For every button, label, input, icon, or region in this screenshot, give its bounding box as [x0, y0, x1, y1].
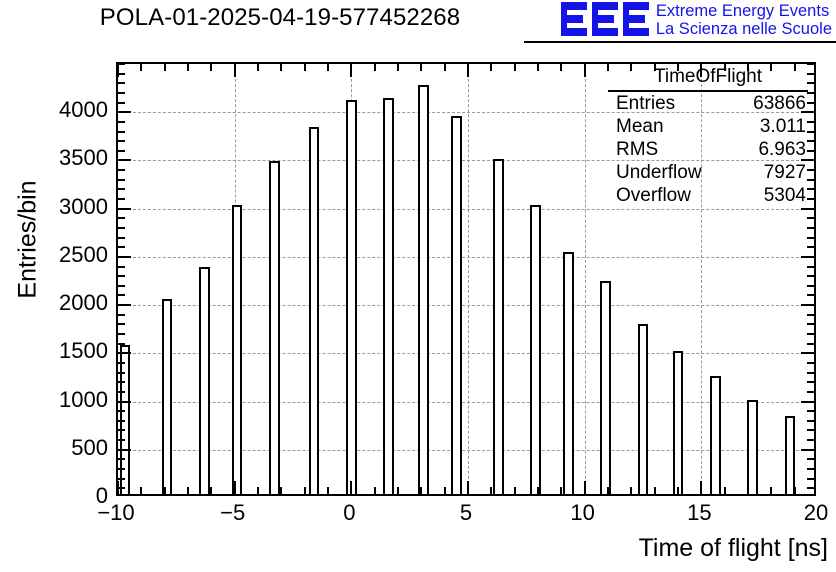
- x-axis-title: Time of flight [ns]: [639, 534, 828, 563]
- axis-tick: [374, 487, 376, 494]
- axis-tick: [118, 64, 125, 65]
- axis-tick: [801, 449, 814, 451]
- y-tick-label: 3000: [59, 194, 108, 220]
- axis-tick: [700, 481, 702, 494]
- axis-tick: [118, 92, 125, 94]
- y-tick-label: 2000: [59, 290, 108, 316]
- stats-title: TimeOfFlight: [608, 66, 808, 92]
- axis-tick: [118, 237, 125, 239]
- letter-e-icon: [561, 2, 587, 36]
- stats-value: 63866: [753, 93, 806, 116]
- y-tick-label: 1000: [59, 387, 108, 413]
- axis-tick: [807, 362, 814, 364]
- axis-tick: [118, 478, 125, 480]
- axis-tick: [118, 294, 125, 296]
- histogram-bar: [199, 267, 210, 494]
- axis-tick: [807, 266, 814, 268]
- y-tick-label: 500: [71, 435, 108, 461]
- axis-tick: [537, 64, 539, 71]
- axis-tick: [584, 481, 586, 494]
- stats-key: Overflow: [616, 185, 691, 208]
- histogram-bar: [747, 400, 758, 494]
- axis-tick: [118, 179, 125, 181]
- axis-tick: [807, 343, 814, 345]
- stats-value: 6.963: [758, 139, 806, 162]
- axis-tick: [210, 487, 212, 494]
- axis-tick: [118, 391, 125, 393]
- axis-tick: [327, 64, 329, 71]
- axis-tick: [801, 352, 814, 354]
- axis-tick: [801, 256, 814, 258]
- x-tick-label: −10: [97, 500, 134, 526]
- axis-tick: [118, 169, 125, 171]
- gridline-vertical: [468, 64, 469, 494]
- axis-tick: [118, 362, 125, 364]
- axis-tick: [350, 481, 352, 494]
- axis-tick: [420, 487, 422, 494]
- eee-logo-text: Extreme Energy Events La Scienza nelle S…: [656, 2, 832, 39]
- axis-tick: [118, 468, 125, 470]
- axis-tick: [118, 429, 125, 431]
- histogram-bar: [710, 376, 721, 495]
- axis-tick: [807, 429, 814, 431]
- eee-logo-mark: [561, 2, 649, 36]
- axis-tick: [807, 275, 814, 277]
- eee-logo: Extreme Energy Events La Scienza nelle S…: [561, 2, 832, 39]
- axis-tick: [118, 227, 125, 229]
- axis-tick: [807, 237, 814, 239]
- axis-tick: [560, 64, 562, 71]
- chart-canvas: POLA-01-2025-04-19-577452268 Extreme Ene…: [0, 0, 836, 572]
- axis-tick: [118, 266, 125, 268]
- histogram-bar: [530, 205, 541, 494]
- stats-row: Underflow7927: [600, 162, 816, 185]
- axis-tick: [257, 487, 259, 494]
- x-tick-label: 20: [804, 500, 828, 526]
- axis-tick: [164, 64, 166, 71]
- axis-tick: [724, 487, 726, 494]
- x-tick-label: −5: [220, 500, 245, 526]
- stats-key: Underflow: [616, 162, 702, 185]
- axis-tick: [234, 64, 236, 77]
- axis-tick: [807, 372, 814, 374]
- stats-row: Overflow5304: [600, 185, 816, 208]
- axis-tick: [118, 352, 131, 354]
- axis-tick: [118, 449, 131, 451]
- histogram-bar: [232, 205, 243, 494]
- x-tick-label: 10: [570, 500, 594, 526]
- axis-tick: [801, 304, 814, 306]
- axis-tick: [118, 285, 125, 287]
- axis-tick: [514, 64, 516, 71]
- histogram-bar: [785, 416, 796, 494]
- axis-tick: [118, 102, 125, 104]
- y-tick-label: 3500: [59, 145, 108, 171]
- axis-tick: [118, 217, 125, 219]
- axis-tick: [118, 198, 125, 200]
- axis-tick: [118, 401, 131, 403]
- histogram-bar: [269, 161, 280, 494]
- stats-row: Entries63866: [600, 93, 816, 116]
- axis-tick: [397, 487, 399, 494]
- histogram-bar: [493, 159, 504, 494]
- stats-row: Mean3.011: [600, 116, 816, 139]
- axis-tick: [118, 304, 131, 306]
- eee-logo-line1: Extreme Energy Events: [656, 2, 832, 20]
- axis-tick: [118, 73, 125, 75]
- axis-tick: [444, 487, 446, 494]
- axis-tick: [118, 150, 125, 152]
- x-axis-ticklabels: −10−505101520: [116, 500, 816, 530]
- axis-tick: [304, 64, 306, 71]
- histogram-bar: [346, 100, 357, 494]
- axis-tick: [654, 487, 656, 494]
- eee-logo-line2: La Scienza nelle Scuole: [656, 20, 832, 38]
- axis-tick: [304, 487, 306, 494]
- letter-e-icon: [623, 2, 649, 36]
- y-tick-label: 4000: [59, 97, 108, 123]
- axis-tick: [118, 410, 125, 412]
- gridline-vertical: [585, 64, 586, 494]
- axis-tick: [807, 217, 814, 219]
- axis-tick: [807, 468, 814, 470]
- gridline-horizontal: [118, 209, 814, 210]
- axis-tick: [187, 64, 189, 71]
- stats-row: RMS6.963: [600, 139, 816, 162]
- axis-tick: [118, 372, 125, 374]
- axis-tick: [490, 64, 492, 71]
- axis-tick: [164, 487, 166, 494]
- axis-tick: [807, 458, 814, 460]
- axis-tick: [118, 64, 119, 77]
- page-title: POLA-01-2025-04-19-577452268: [0, 4, 560, 32]
- axis-tick: [514, 487, 516, 494]
- axis-tick: [537, 487, 539, 494]
- axis-tick: [770, 487, 772, 494]
- axis-tick: [807, 420, 814, 422]
- histogram-bar: [600, 281, 611, 494]
- axis-tick: [677, 487, 679, 494]
- axis-tick: [327, 487, 329, 494]
- axis-tick: [187, 487, 189, 494]
- axis-tick: [118, 140, 125, 142]
- axis-tick: [444, 64, 446, 71]
- axis-tick: [118, 323, 125, 325]
- axis-tick: [747, 487, 749, 494]
- axis-tick: [807, 246, 814, 248]
- axis-tick: [794, 487, 796, 494]
- axis-tick: [280, 487, 282, 494]
- axis-tick: [118, 333, 125, 335]
- histogram-bar: [383, 98, 394, 494]
- axis-tick: [118, 381, 125, 383]
- y-axis-title: Entries/bin: [14, 120, 43, 360]
- axis-tick: [118, 121, 125, 123]
- axis-tick: [560, 487, 562, 494]
- histogram-bar: [162, 299, 173, 494]
- x-tick-label: 15: [687, 500, 711, 526]
- axis-tick: [140, 64, 142, 71]
- axis-tick: [118, 487, 125, 489]
- gridline-horizontal: [118, 353, 814, 354]
- axis-tick: [584, 64, 586, 77]
- axis-tick: [350, 64, 352, 77]
- axis-tick: [118, 420, 125, 422]
- axis-tick: [118, 188, 125, 190]
- axis-tick: [807, 294, 814, 296]
- axis-tick: [807, 323, 814, 325]
- stats-key: RMS: [616, 139, 658, 162]
- axis-tick: [118, 82, 125, 84]
- axis-tick: [807, 333, 814, 335]
- axis-tick: [374, 64, 376, 71]
- x-tick-label: 5: [460, 500, 472, 526]
- x-tick-label: 0: [343, 500, 355, 526]
- stats-key: Mean: [616, 116, 664, 139]
- axis-tick: [807, 381, 814, 383]
- axis-tick: [118, 159, 131, 161]
- axis-tick: [118, 208, 131, 210]
- histogram-bar: [563, 252, 574, 494]
- histogram-bar: [673, 351, 684, 494]
- axis-tick: [807, 285, 814, 287]
- axis-tick: [807, 410, 814, 412]
- axis-tick: [467, 481, 469, 494]
- axis-tick: [801, 208, 814, 210]
- axis-tick: [807, 478, 814, 480]
- axis-tick: [257, 64, 259, 71]
- axis-tick: [118, 439, 125, 441]
- axis-tick: [140, 487, 142, 494]
- axis-tick: [807, 391, 814, 393]
- axis-tick: [607, 487, 609, 494]
- header-rule: [524, 41, 836, 43]
- y-tick-label: 1500: [59, 338, 108, 364]
- axis-tick: [118, 314, 125, 316]
- histogram-bar: [418, 85, 429, 494]
- axis-tick: [420, 64, 422, 71]
- axis-tick: [280, 64, 282, 71]
- axis-tick: [807, 227, 814, 229]
- letter-e-icon: [592, 2, 618, 36]
- axis-tick: [118, 131, 125, 133]
- stats-box: TimeOfFlight Entries63866Mean3.011RMS6.9…: [600, 62, 816, 208]
- stats-value: 7927: [764, 162, 806, 185]
- axis-tick: [490, 487, 492, 494]
- histogram-bar: [451, 116, 462, 494]
- stats-rows: Entries63866Mean3.011RMS6.963Underflow79…: [600, 93, 816, 208]
- axis-tick: [807, 314, 814, 316]
- histogram-bar: [638, 324, 649, 494]
- axis-tick: [118, 458, 125, 460]
- axis-tick: [118, 111, 131, 113]
- axis-tick: [807, 439, 814, 441]
- axis-tick: [807, 487, 814, 489]
- histogram-bar: [309, 127, 320, 494]
- axis-tick: [118, 256, 131, 258]
- gridline-horizontal: [118, 305, 814, 306]
- axis-tick: [397, 64, 399, 71]
- y-tick-label: 2500: [59, 242, 108, 268]
- axis-tick: [630, 487, 632, 494]
- axis-tick: [118, 343, 125, 345]
- stats-value: 3.011: [760, 116, 806, 139]
- stats-value: 5304: [764, 185, 806, 208]
- axis-tick: [467, 64, 469, 77]
- axis-tick: [118, 481, 119, 494]
- axis-tick: [118, 275, 125, 277]
- axis-tick: [801, 401, 814, 403]
- axis-tick: [234, 481, 236, 494]
- gridline-horizontal: [118, 257, 814, 258]
- axis-tick: [210, 64, 212, 71]
- stats-key: Entries: [616, 93, 675, 116]
- axis-tick: [118, 246, 125, 248]
